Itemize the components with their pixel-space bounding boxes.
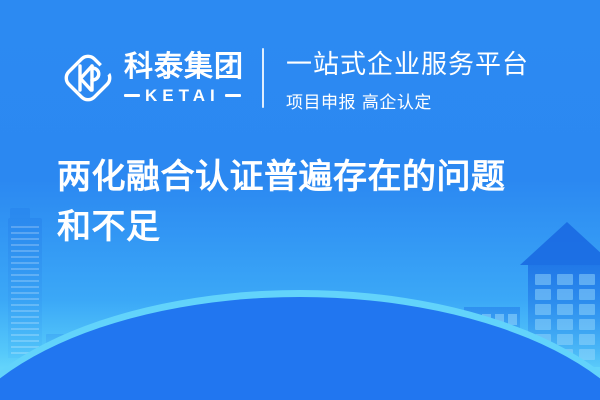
banner-header: 科泰集团 KETAI 一站式企业服务平台 项目申报 高企认定 bbox=[60, 42, 529, 114]
slogan-primary: 一站式企业服务平台 bbox=[286, 44, 529, 81]
promo-banner: 科泰集团 KETAI 一站式企业服务平台 项目申报 高企认定 两化融合认证普遍存… bbox=[0, 0, 600, 400]
logo-dash-right-icon bbox=[225, 94, 241, 97]
bottom-curved-band bbox=[0, 290, 600, 400]
page-title: 两化融合认证普遍存在的问题和不足 bbox=[57, 152, 537, 252]
curve-fill bbox=[0, 297, 600, 400]
building-left-tower-cap bbox=[10, 208, 30, 218]
logo-company-name-en-row: KETAI bbox=[124, 87, 244, 104]
ketai-kp-monogram-icon bbox=[60, 50, 116, 106]
slogan-secondary: 项目申报 高企认定 bbox=[286, 88, 529, 113]
logo-company-name-en: KETAI bbox=[145, 87, 220, 104]
header-divider bbox=[262, 48, 264, 108]
logo-wordmark: 科泰集团 KETAI bbox=[124, 52, 244, 104]
logo-company-name-cn: 科泰集团 bbox=[124, 52, 244, 81]
logo-dash-left-icon bbox=[124, 94, 140, 97]
header-slogan: 一站式企业服务平台 项目申报 高企认定 bbox=[286, 44, 529, 113]
